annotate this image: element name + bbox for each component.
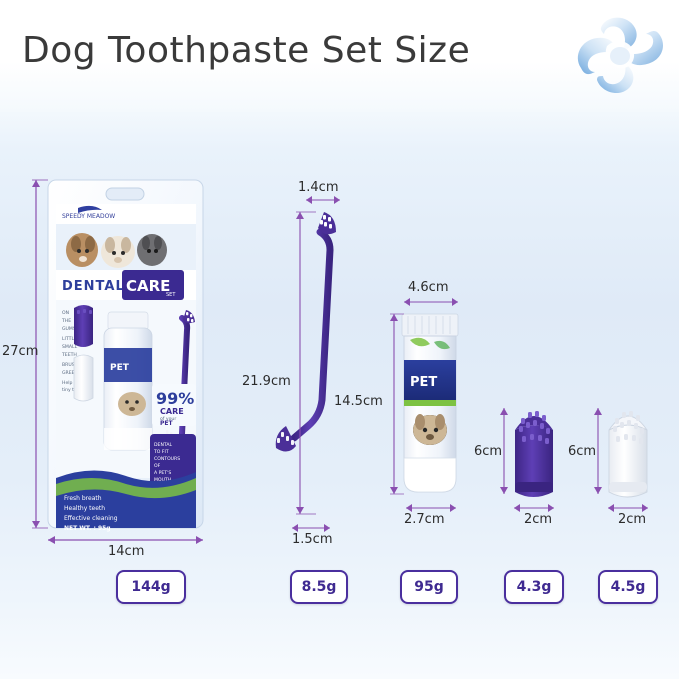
svg-text:SPEEDY MEADOW: SPEEDY MEADOW [62, 213, 115, 220]
weight-badge-toothpaste: 95g [400, 570, 458, 604]
dim-white-finger-height: 6cm [568, 444, 596, 459]
dim-white-finger-width: 2cm [618, 512, 646, 527]
weight-badge-retail-pack: 144g [116, 570, 186, 604]
dim-brush-head-top: 1.4cm [298, 180, 339, 195]
page-title: Dog Toothpaste Set Size [22, 30, 470, 71]
svg-text:TO FIT: TO FIT [153, 449, 169, 455]
svg-text:PET: PET [110, 363, 130, 373]
weight-badge-finger-brush-purple: 4.3g [504, 570, 564, 604]
product-illustrations: SPEEDY MEADOW [0, 112, 679, 572]
svg-text:CONTOURS: CONTOURS [154, 456, 180, 462]
dim-purple-finger-height: 6cm [474, 444, 502, 459]
dim-purple-finger-width: 2cm [524, 512, 552, 527]
dim-pack-width: 14cm [108, 544, 144, 559]
svg-text:GUMS: GUMS [62, 326, 76, 332]
svg-text:TEETH: TEETH [61, 352, 77, 358]
svg-text:DENTAL: DENTAL [62, 279, 125, 294]
svg-text:A PET'S: A PET'S [154, 470, 171, 476]
dim-tube-width-top: 4.6cm [408, 280, 449, 295]
svg-text:CARE: CARE [126, 277, 170, 295]
svg-text:NET WT. : 95g: NET WT. : 95g [64, 525, 111, 532]
svg-text:Healthy teeth: Healthy teeth [64, 505, 105, 512]
product-double-head-toothbrush [276, 196, 340, 532]
infographic-page: Dog Toothpaste Set Size [0, 0, 679, 679]
blue-ribbon-bow-icon [567, 6, 671, 106]
svg-text:CARE: CARE [160, 407, 184, 416]
weight-badge-finger-brush-white: 4.5g [598, 570, 658, 604]
dim-tube-height: 14.5cm [334, 394, 383, 409]
svg-text:SET: SET [166, 292, 176, 298]
svg-text:PET: PET [410, 375, 437, 390]
header: Dog Toothpaste Set Size [0, 0, 679, 112]
product-finger-brush-purple [500, 408, 554, 512]
product-retail-pack: SPEEDY MEADOW [32, 180, 203, 544]
svg-text:Effective cleaning: Effective cleaning [64, 515, 118, 522]
svg-text:SMALL: SMALL [62, 344, 78, 350]
svg-text:THE: THE [61, 318, 71, 324]
dim-brush-length: 21.9cm [242, 374, 291, 389]
svg-text:DENTAL: DENTAL [154, 442, 172, 448]
svg-text:PET: PET [160, 420, 173, 427]
weight-badge-toothbrush: 8.5g [290, 570, 348, 604]
svg-text:ON: ON [62, 310, 69, 316]
product-finger-brush-white [594, 408, 648, 512]
product-stage: SPEEDY MEADOW [0, 112, 679, 572]
product-toothpaste-tube: PET [390, 298, 458, 512]
dim-tube-width-bottom: 2.7cm [404, 512, 445, 527]
svg-text:OF: OF [154, 463, 161, 469]
dim-pack-height: 27cm [2, 344, 38, 359]
svg-text:99%: 99% [156, 389, 194, 408]
dim-brush-head-bottom: 1.5cm [292, 532, 333, 547]
svg-text:Fresh breath: Fresh breath [64, 495, 102, 502]
